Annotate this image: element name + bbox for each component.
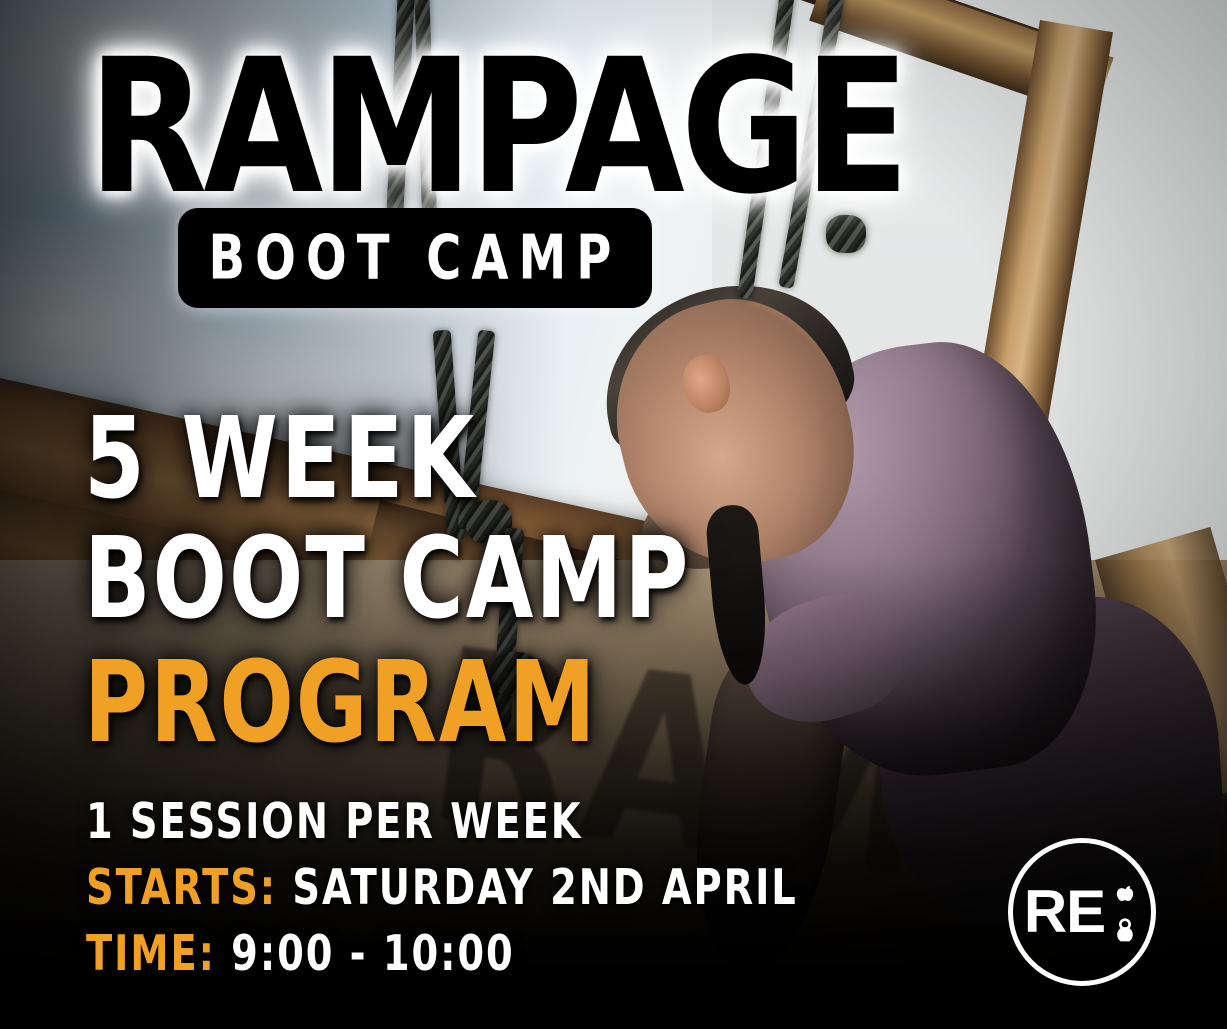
kettlebell-icon xyxy=(1110,915,1140,945)
brand-wordmark: RAMPAGE xyxy=(88,36,906,219)
re-logo-inner: RE xyxy=(1024,880,1140,945)
headline-line-3: PROGRAM xyxy=(84,646,598,759)
start-date-label: STARTS: xyxy=(86,860,277,916)
time-label: TIME: xyxy=(86,926,216,982)
headline-line-1: 5 WEEK xyxy=(84,402,477,515)
promo-poster: RAMPAGE RAMPAGE BOOT CAMP 5 WEEK xyxy=(0,0,1227,1029)
re-logo-icon-stack xyxy=(1110,882,1140,945)
sessions-per-week-text: 1 SESSION PER WEEK xyxy=(86,794,582,850)
brand-badge-label: BOOT CAMP xyxy=(209,222,622,294)
time-row: TIME: 9:00 - 10:00 xyxy=(86,926,515,982)
brand-badge: BOOT CAMP xyxy=(178,208,652,308)
headline-line-2: BOOT CAMP xyxy=(84,522,691,635)
apple-icon xyxy=(1110,882,1140,912)
poster-content: RAMPAGE BOOT CAMP 5 WEEK BOOT CAMP PROGR… xyxy=(0,0,1227,1029)
time-value: 9:00 - 10:00 xyxy=(231,926,514,982)
start-date-row: STARTS: SATURDAY 2ND APRIL xyxy=(86,860,798,916)
re-logo-text: RE xyxy=(1024,883,1105,941)
re-logo-badge[interactable]: RE xyxy=(1008,838,1156,986)
start-date-value: SATURDAY 2ND APRIL xyxy=(292,860,797,916)
